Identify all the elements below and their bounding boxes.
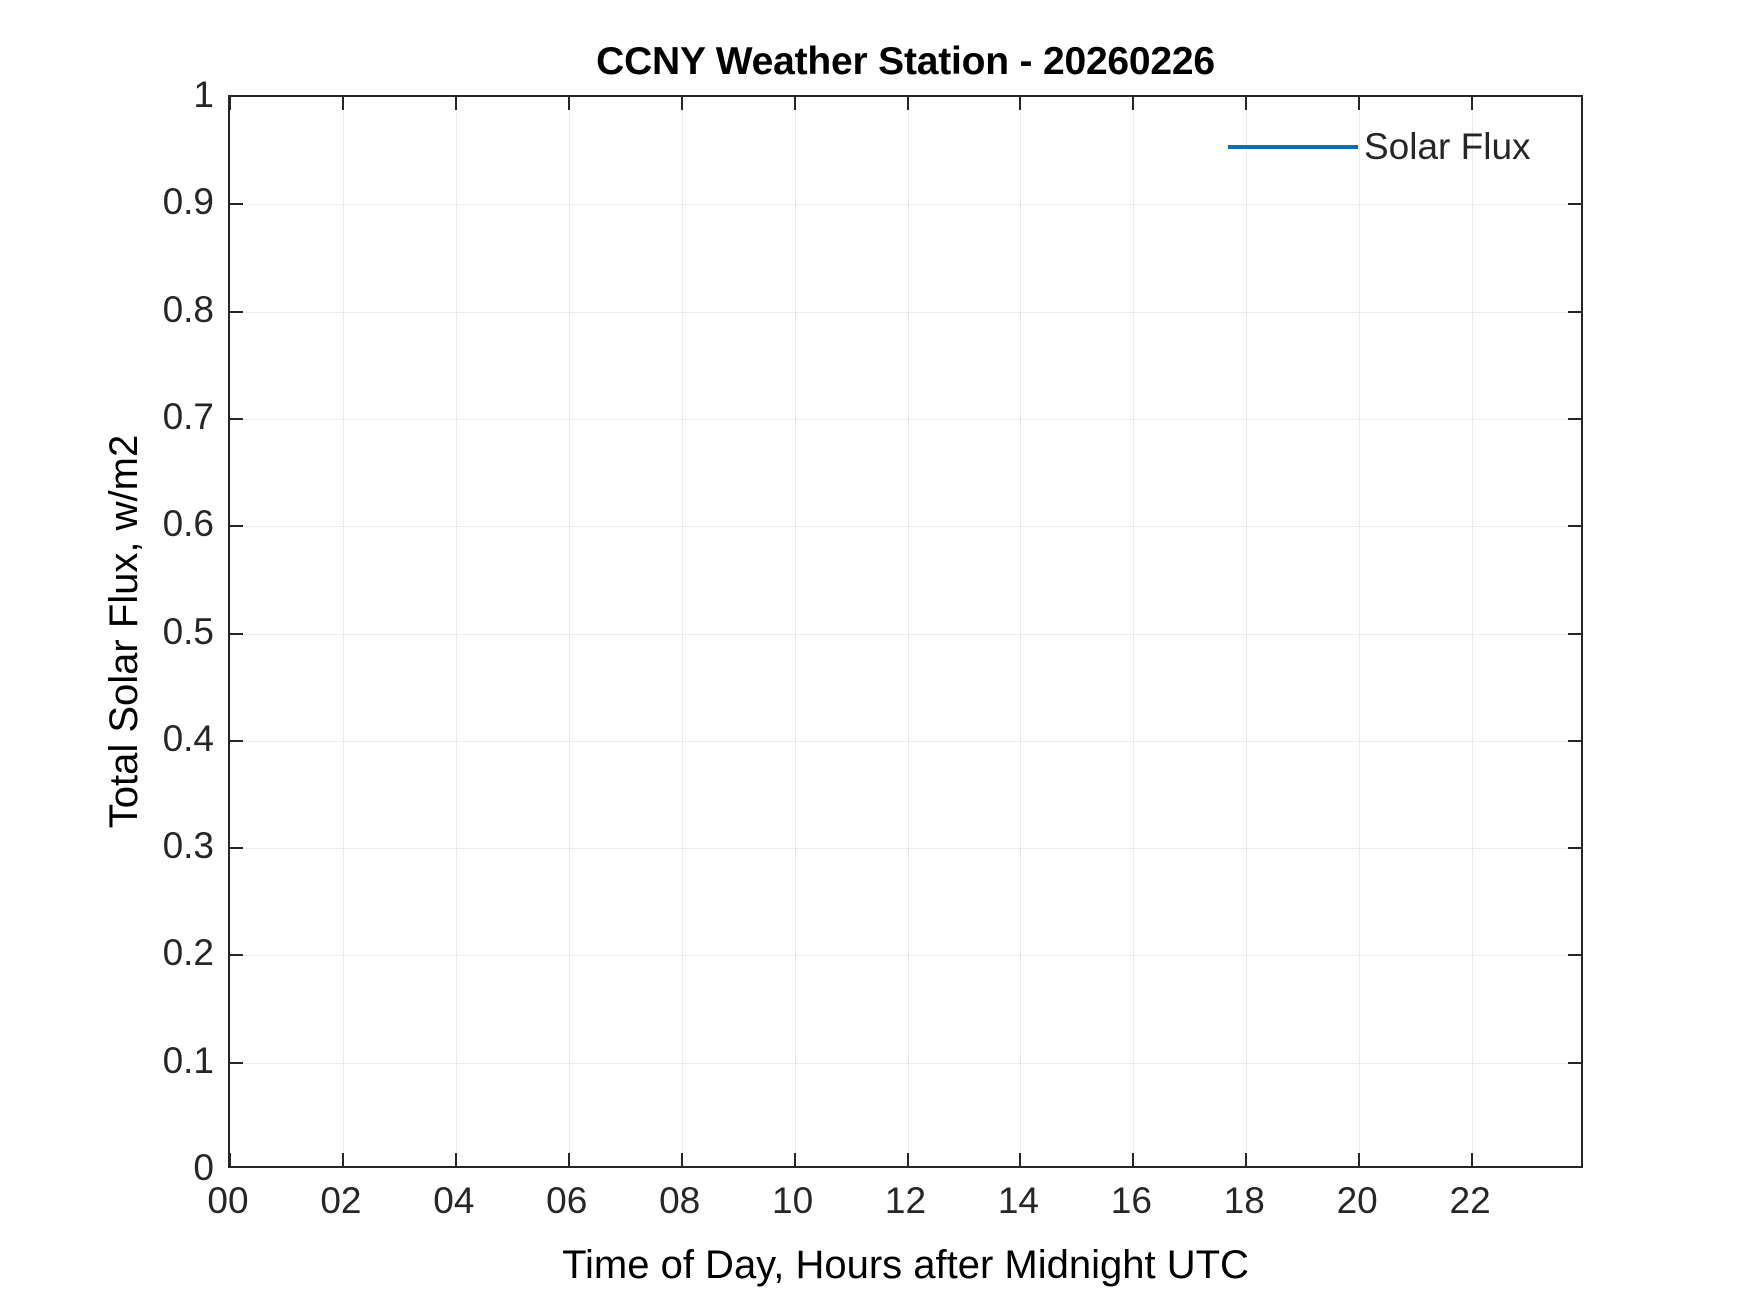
x-tick-mark <box>229 97 231 110</box>
x-tick-label: 16 <box>1111 1180 1152 1222</box>
x-tick-mark <box>455 1153 457 1166</box>
y-tick-label: 0.7 <box>163 396 214 438</box>
y-tick-mark <box>230 740 243 742</box>
x-tick-mark <box>794 97 796 110</box>
x-tick-mark <box>1245 1153 1247 1166</box>
y-tick-label: 0.2 <box>163 932 214 974</box>
x-axis-label: Time of Day, Hours after Midnight UTC <box>228 1243 1583 1288</box>
y-tick-label: 0.5 <box>163 611 214 653</box>
y-tick-label: 0.9 <box>163 181 214 223</box>
gridline-vertical <box>569 97 570 1166</box>
gridline-vertical <box>1246 97 1247 1166</box>
gridline-vertical <box>795 97 796 1166</box>
x-tick-mark <box>907 1153 909 1166</box>
gridline-vertical <box>456 97 457 1166</box>
x-tick-mark <box>681 97 683 110</box>
x-tick-mark <box>342 1153 344 1166</box>
x-tick-label: 10 <box>772 1180 813 1222</box>
y-tick-label: 0.8 <box>163 289 214 331</box>
x-tick-label: 12 <box>885 1180 926 1222</box>
gridline-horizontal <box>230 419 1581 420</box>
x-tick-mark <box>1358 1153 1360 1166</box>
gridline-vertical <box>682 97 683 1166</box>
gridline-vertical <box>343 97 344 1166</box>
y-tick-label: 0.1 <box>163 1040 214 1082</box>
gridline-horizontal <box>230 526 1581 527</box>
x-tick-mark <box>229 1153 231 1166</box>
y-tick-mark <box>1568 418 1581 420</box>
x-tick-label: 20 <box>1337 1180 1378 1222</box>
y-axis-label: Total Solar Flux, w/m2 <box>96 95 152 1168</box>
x-tick-mark <box>681 1153 683 1166</box>
y-tick-mark <box>230 633 243 635</box>
y-tick-mark <box>230 1062 243 1064</box>
y-tick-mark <box>230 525 243 527</box>
y-tick-mark <box>1568 1062 1581 1064</box>
x-tick-label: 18 <box>1224 1180 1265 1222</box>
legend-label-solar-flux: Solar Flux <box>1364 126 1531 168</box>
x-tick-mark <box>455 97 457 110</box>
gridline-vertical <box>1359 97 1360 1166</box>
x-tick-mark <box>1245 97 1247 110</box>
y-tick-mark <box>1568 203 1581 205</box>
x-tick-mark <box>568 1153 570 1166</box>
x-tick-mark <box>1019 1153 1021 1166</box>
y-tick-mark <box>1568 525 1581 527</box>
y-tick-mark <box>230 847 243 849</box>
x-tick-label: 02 <box>320 1180 361 1222</box>
gridline-vertical <box>1020 97 1021 1166</box>
gridline-horizontal <box>230 312 1581 313</box>
data-series-layer <box>230 97 1581 1166</box>
x-tick-mark <box>1471 97 1473 110</box>
y-tick-mark <box>1568 954 1581 956</box>
x-tick-mark <box>794 1153 796 1166</box>
x-tick-label: 08 <box>659 1180 700 1222</box>
y-tick-mark <box>230 311 243 313</box>
y-tick-label: 0.4 <box>163 718 214 760</box>
y-tick-mark <box>1568 847 1581 849</box>
x-tick-label: 14 <box>998 1180 1039 1222</box>
gridline-vertical <box>1133 97 1134 1166</box>
gridline-horizontal <box>230 1063 1581 1064</box>
y-tick-mark <box>230 954 243 956</box>
legend-line-sample-solar-flux <box>1228 145 1358 149</box>
y-tick-mark <box>1568 740 1581 742</box>
x-tick-mark <box>1019 97 1021 110</box>
x-tick-mark <box>1132 97 1134 110</box>
gridline-horizontal <box>230 741 1581 742</box>
y-tick-mark <box>230 203 243 205</box>
x-tick-mark <box>1358 97 1360 110</box>
chart-title: CCNY Weather Station - 20260226 <box>228 40 1583 84</box>
y-tick-label: 0.6 <box>163 503 214 545</box>
gridline-horizontal <box>230 204 1581 205</box>
gridline-horizontal <box>230 848 1581 849</box>
x-tick-mark <box>1132 1153 1134 1166</box>
y-tick-mark <box>1568 633 1581 635</box>
gridline-vertical <box>1472 97 1473 1166</box>
gridline-horizontal <box>230 634 1581 635</box>
plot-area[interactable] <box>228 95 1583 1168</box>
y-tick-label: 0 <box>193 1147 214 1189</box>
x-tick-mark <box>568 97 570 110</box>
x-tick-mark <box>907 97 909 110</box>
y-tick-label: 1 <box>193 74 214 116</box>
y-tick-mark <box>1568 311 1581 313</box>
gridline-horizontal <box>230 955 1581 956</box>
gridline-vertical <box>908 97 909 1166</box>
x-tick-label: 06 <box>546 1180 587 1222</box>
x-tick-mark <box>1471 1153 1473 1166</box>
x-tick-label: 04 <box>433 1180 474 1222</box>
y-tick-mark <box>230 418 243 420</box>
figure-canvas: CCNY Weather Station - 20260226 00020406… <box>0 0 1750 1313</box>
x-tick-label: 22 <box>1450 1180 1491 1222</box>
x-tick-mark <box>342 97 344 110</box>
y-tick-label: 0.3 <box>163 825 214 867</box>
legend[interactable]: Solar Flux <box>1228 126 1531 168</box>
